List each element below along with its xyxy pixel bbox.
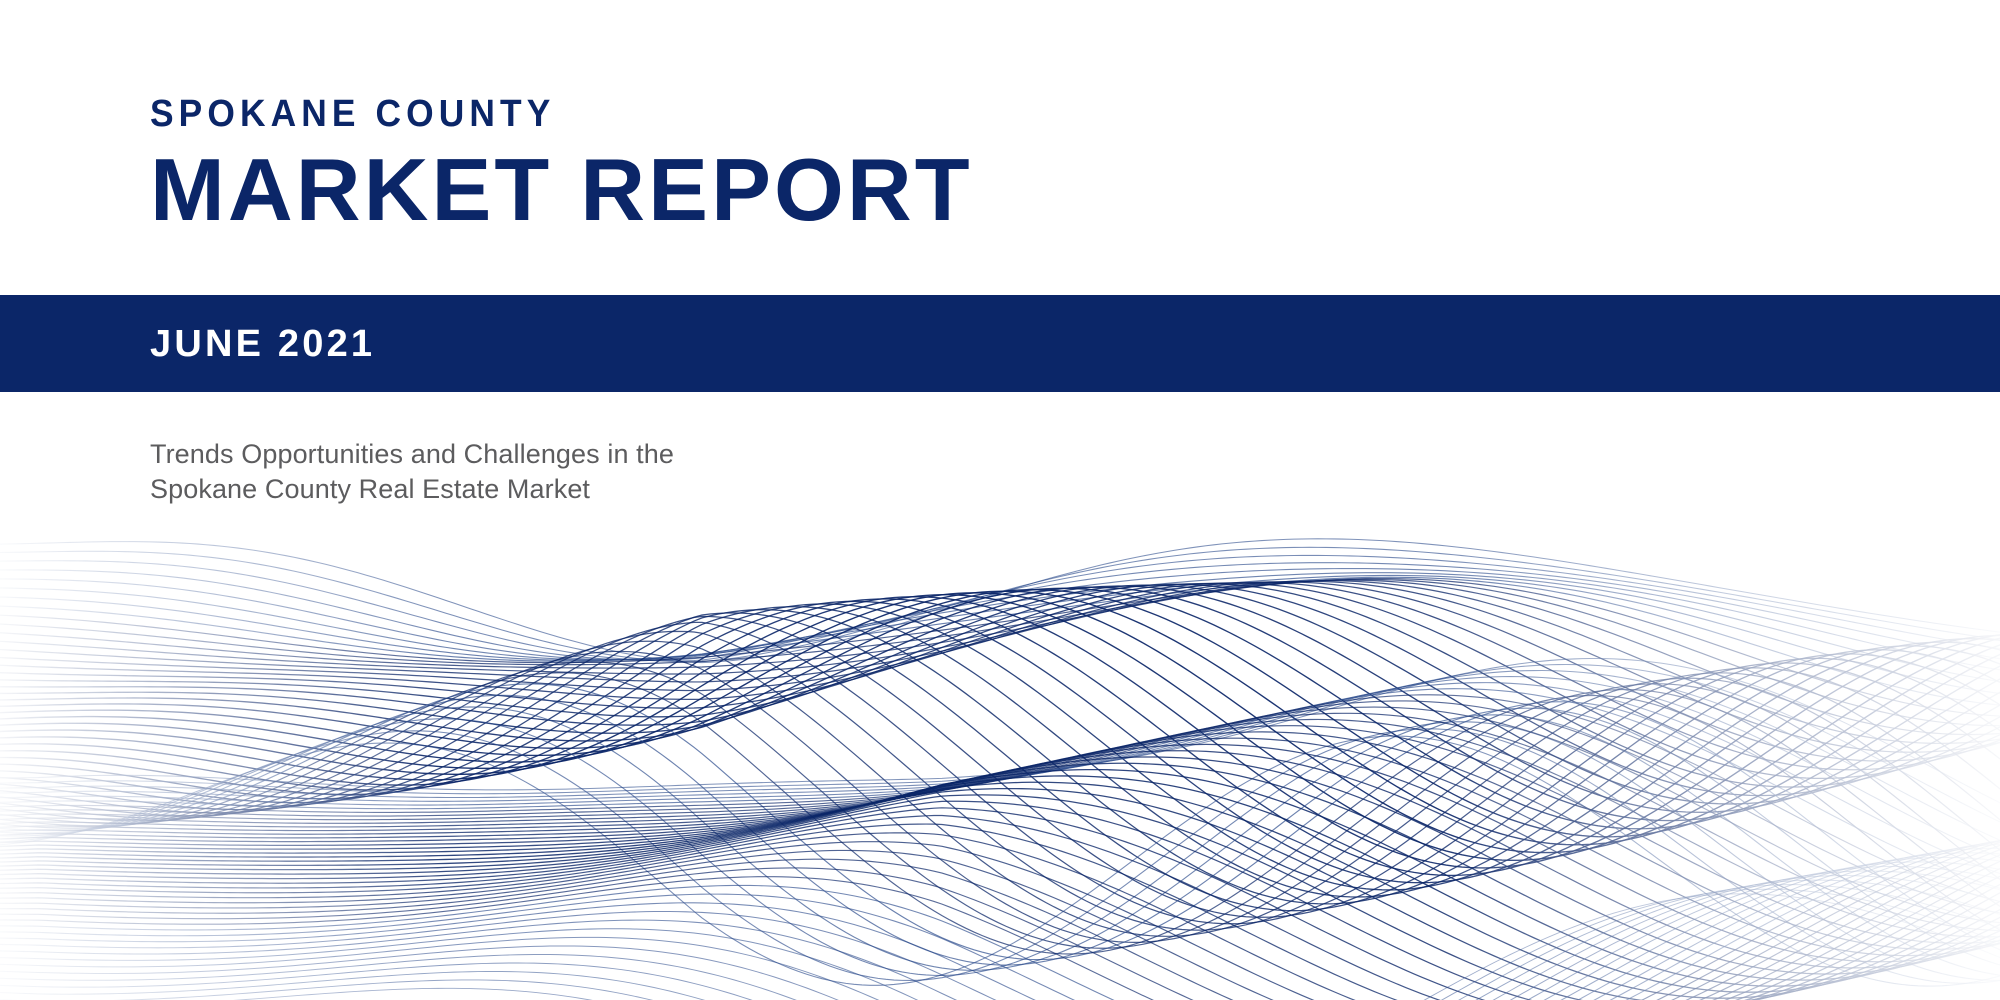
report-eyebrow-county: SPOKANE COUNTY bbox=[150, 95, 900, 133]
cover-subtitle: Trends Opportunities and Challenges in t… bbox=[150, 437, 674, 507]
subtitle-line-1: Trends Opportunities and Challenges in t… bbox=[150, 437, 674, 472]
page-title: MARKET REPORT bbox=[150, 145, 973, 235]
date-band: JUNE 2021 bbox=[0, 295, 2000, 392]
cover-header: SPOKANE COUNTY MARKET REPORT bbox=[150, 95, 957, 235]
flowing-wave-lines-graphic bbox=[0, 430, 2000, 1000]
report-date-label: JUNE 2021 bbox=[150, 325, 375, 363]
subtitle-line-2: Spokane County Real Estate Market bbox=[150, 472, 674, 507]
report-cover-page: SPOKANE COUNTY MARKET REPORT JUNE 2021 T… bbox=[0, 0, 2000, 1000]
